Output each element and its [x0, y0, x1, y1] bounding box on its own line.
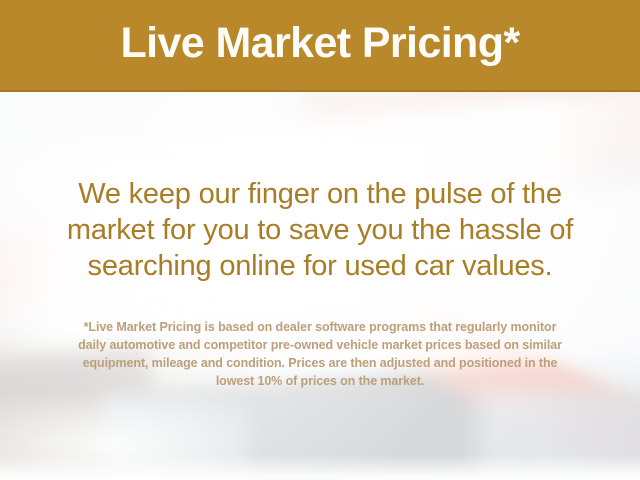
page-title: Live Market Pricing* — [120, 22, 519, 69]
headline-line: We keep our finger on the pulse of the — [0, 176, 640, 212]
disclaimer-line: daily automotive and competitor pre-owne… — [20, 336, 620, 354]
headline-line: searching online for used car values. — [0, 248, 640, 284]
disclaimer-line: lowest 10% of prices on the market. — [20, 372, 620, 390]
disclaimer-line: *Live Market Pricing is based on dealer … — [20, 318, 620, 336]
headline-line: market for you to save you the hassle of — [0, 212, 640, 248]
header-banner: Live Market Pricing* — [0, 0, 640, 92]
disclaimer-block: *Live Market Pricing is based on dealer … — [20, 318, 620, 390]
background-shape-bottom-fade — [0, 455, 640, 480]
headline-block: We keep our finger on the pulse of the m… — [0, 176, 640, 284]
promo-graphic: Live Market Pricing* We keep our finger … — [0, 0, 640, 480]
disclaimer-line: equipment, mileage and condition. Prices… — [20, 354, 620, 372]
